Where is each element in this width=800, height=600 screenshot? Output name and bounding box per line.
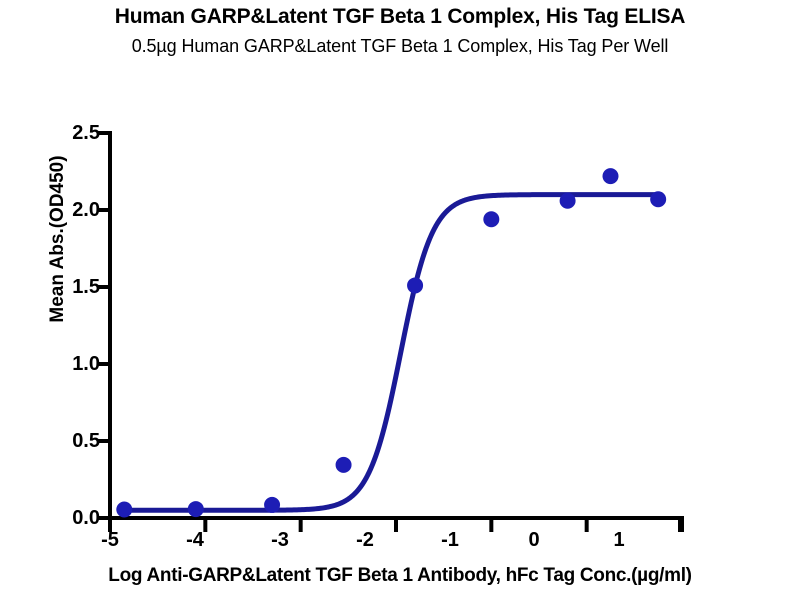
data-point bbox=[116, 502, 132, 518]
data-point bbox=[560, 193, 576, 209]
x-tick-marks bbox=[110, 518, 682, 532]
data-point bbox=[336, 457, 352, 473]
data-point-markers bbox=[116, 168, 666, 517]
data-point bbox=[483, 211, 499, 227]
data-point bbox=[264, 497, 280, 513]
data-point bbox=[407, 277, 423, 293]
data-point bbox=[188, 501, 204, 517]
data-point bbox=[603, 168, 619, 184]
sigmoid-fit-curve bbox=[124, 195, 661, 511]
elisa-chart-figure: Human GARP&Latent TGF Beta 1 Complex, Hi… bbox=[0, 0, 800, 600]
plot-area bbox=[0, 0, 800, 600]
data-point bbox=[650, 191, 666, 207]
axes-group bbox=[108, 131, 684, 532]
